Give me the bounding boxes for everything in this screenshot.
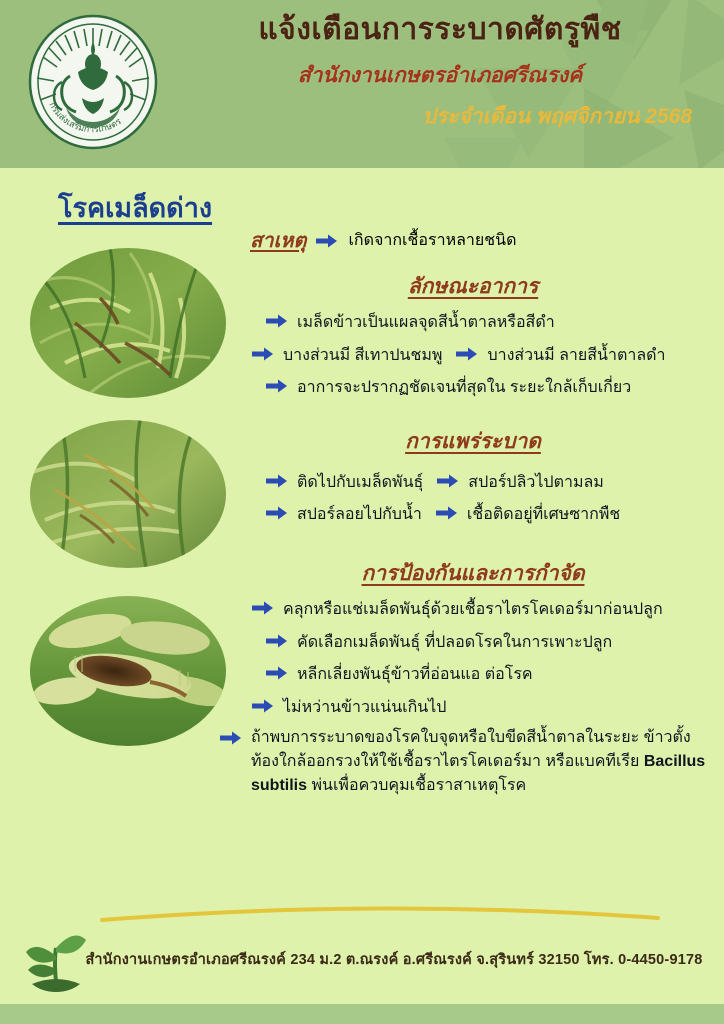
arrow-icon	[252, 698, 274, 714]
symptom-item: เมล็ดข้าวเป็นแผลจุดสีน้ำตาลหรือสีดำ	[236, 311, 710, 334]
cause-row: สาเหตุ เกิดจากเชื้อราหลายชนิด	[236, 224, 710, 256]
prevention-text: ไม่หว่านข้าวแน่นเกินไป	[283, 696, 446, 719]
footer-divider	[100, 906, 660, 924]
spread-item: ติดไปกับเมล็ดพันธุ์	[266, 471, 423, 494]
diseased-grain-closeup-photo	[30, 596, 226, 746]
arrow-icon	[266, 473, 288, 489]
symptom-item: บางส่วนมี สีเทาปนชมพู	[252, 344, 442, 367]
poster-root: กรมส่งเสริมการเกษตร แจ้งเตือนการระบาดศัต…	[0, 0, 724, 1024]
arrow-icon	[266, 505, 288, 521]
spread-heading: การแพร่ระบาด	[236, 425, 710, 458]
arrow-icon	[436, 505, 458, 521]
symptom-text: บางส่วนมี สีเทาปนชมพู	[283, 344, 442, 367]
spread-text: สปอร์ปลิวไปตามลม	[468, 471, 604, 494]
poster-body: โรคเมล็ดด่าง	[0, 168, 724, 896]
prevention-heading: การป้องกันและการกำจัด	[236, 557, 710, 590]
spread-item: สปอร์ปลิวไปตามลม	[437, 471, 604, 494]
page-title: แจ้งเตือนการระบาดศัตรูพืช	[180, 8, 700, 52]
spread-text: สปอร์ลอยไปกับน้ำ	[297, 503, 422, 526]
prevention-paragraph-line1: ถ้าพบการระบาดของโรคใบจุดหรือใบขีดสีน้ำตา…	[251, 729, 639, 746]
footer-bottom-strip	[0, 1004, 724, 1024]
symptoms-heading: ลักษณะอาการ	[236, 270, 710, 303]
prevention-item: คัดเลือกเมล็ดพันธุ์ ที่ปลอดโรคในการเพาะป…	[236, 631, 710, 654]
header-text-block: แจ้งเตือนการระบาดศัตรูพืช สำนักงานเกษตรอ…	[180, 8, 700, 133]
rice-panicle-field-photo	[30, 248, 226, 398]
symptom-item: บางส่วนมี ลายสีน้ำตาลดำ	[456, 344, 665, 367]
office-subtitle: สำนักงานเกษตรอำเภอศรีณรงค์	[180, 60, 700, 92]
content-column: สาเหตุ เกิดจากเชื้อราหลายชนิด ลักษณะอากา…	[236, 220, 710, 798]
arrow-icon	[252, 346, 274, 362]
arrow-icon	[252, 600, 274, 616]
arrow-icon	[456, 346, 478, 362]
spread-text: ติดไปกับเมล็ดพันธุ์	[297, 471, 423, 494]
symptom-text: เมล็ดข้าวเป็นแผลจุดสีน้ำตาลหรือสีดำ	[297, 311, 555, 334]
symptom-text: บางส่วนมี ลายสีน้ำตาลดำ	[487, 344, 665, 367]
prevention-item: หลีกเลี่ยงพันธุ์ข้าวที่อ่อนแอ ต่อโรค	[236, 663, 710, 686]
prevention-paragraph: ถ้าพบการระบาดของโรคใบจุดหรือใบขีดสีน้ำตา…	[220, 726, 710, 798]
issue-month-label: ประจำเดือน พฤศจิกายน 2568	[180, 101, 700, 133]
footer-contact-text: สำนักงานเกษตรอำเภอศรีณรงค์ 234 ม.2 ต.ณรง…	[84, 948, 704, 971]
disease-name-heading: โรคเมล็ดด่าง	[58, 186, 212, 229]
arrow-icon	[266, 633, 288, 649]
poster-header: กรมส่งเสริมการเกษตร แจ้งเตือนการระบาดศัต…	[0, 0, 724, 168]
prevention-text: คลุกหรือแช่เมล็ดพันธุ์ด้วยเชื้อราไตรโคเด…	[283, 598, 663, 621]
symptom-item: อาการจะปรากฏชัดเจนที่สุดใน ระยะใกล้เก็บเ…	[236, 376, 710, 399]
cause-label: สาเหตุ	[250, 224, 306, 256]
spread-pair-row: สปอร์ลอยไปกับน้ำ เชื้อติดอยู่ที่เศษซากพื…	[236, 498, 710, 531]
arrow-icon	[437, 473, 459, 489]
prevention-item: ไม่หว่านข้าวแน่นเกินไป	[236, 696, 710, 719]
spread-item: เชื้อติดอยู่ที่เศษซากพืช	[436, 503, 620, 526]
infected-rice-panicle-photo	[30, 420, 226, 568]
arrow-icon	[266, 665, 288, 681]
arrow-icon	[220, 730, 242, 746]
prevention-text: คัดเลือกเมล็ดพันธุ์ ที่ปลอดโรคในการเพาะป…	[297, 631, 612, 654]
arrow-icon	[316, 233, 338, 249]
spread-item: สปอร์ลอยไปกับน้ำ	[266, 503, 422, 526]
arrow-icon	[266, 378, 288, 394]
poster-footer: สำนักงานเกษตรอำเภอศรีณรงค์ 234 ม.2 ต.ณรง…	[0, 896, 724, 1024]
seedling-icon	[18, 920, 94, 996]
arrow-icon	[266, 313, 288, 329]
prevention-item: คลุกหรือแช่เมล็ดพันธุ์ด้วยเชื้อราไตรโคเด…	[236, 598, 710, 621]
spread-pair-row: ติดไปกับเมล็ดพันธุ์ สปอร์ปลิวไปตามลม	[236, 466, 710, 499]
symptom-pair-row: บางส่วนมี สีเทาปนชมพู บางส่วนมี ลายสีน้ำ…	[236, 339, 710, 372]
spread-text: เชื้อติดอยู่ที่เศษซากพืช	[467, 503, 620, 526]
symptom-text: อาการจะปรากฏชัดเจนที่สุดใน ระยะใกล้เก็บเ…	[297, 376, 631, 399]
prevention-text: หลีกเลี่ยงพันธุ์ข้าวที่อ่อนแอ ต่อโรค	[297, 663, 533, 686]
department-seal-logo: กรมส่งเสริมการเกษตร	[26, 12, 160, 152]
cause-text: เกิดจากเชื้อราหลายชนิด	[348, 227, 516, 253]
prevention-paragraph-line3: พ่นเพื่อควบคุมเชื้อราสาเหตุโรค	[307, 777, 526, 794]
